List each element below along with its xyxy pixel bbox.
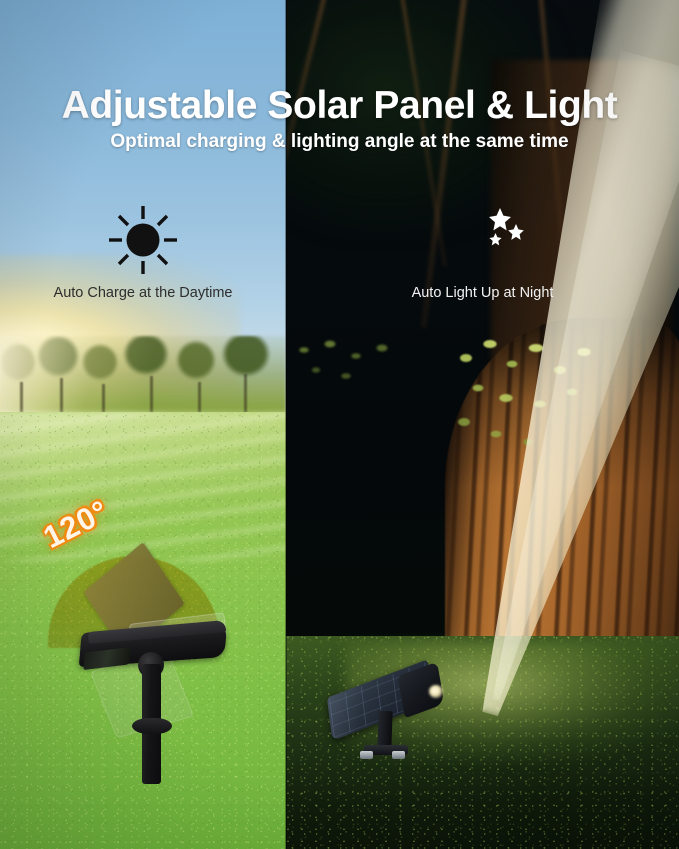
ground-post [377, 711, 392, 749]
sun-icon [0, 200, 286, 280]
page-title: Adjustable Solar Panel & Light [0, 84, 679, 128]
day-tree-trunk [60, 378, 63, 416]
base-spike-right [392, 751, 405, 759]
page-subtitle: Optimal charging & lighting angle at the… [0, 131, 679, 153]
day-tree-trunk [150, 376, 153, 416]
solar-light-day [78, 612, 238, 787]
day-tree-trunk [198, 382, 201, 416]
solar-light-night [326, 663, 466, 768]
crescent-moon-stars-icon [286, 200, 679, 280]
day-feature [0, 200, 286, 280]
day-tree-trunk [20, 382, 23, 416]
night-caption: Auto Light Up at Night [286, 285, 679, 301]
post-collar [132, 718, 172, 734]
base-spike-left [360, 751, 373, 759]
day-tree-trunk [244, 374, 247, 416]
lamp-emitter [429, 685, 443, 698]
lit-leaves-left [286, 336, 436, 416]
product-feature-banner: Adjustable Solar Panel & Light Optimal c… [0, 0, 679, 849]
day-caption: Auto Charge at the Daytime [0, 285, 286, 301]
night-feature [286, 200, 679, 280]
